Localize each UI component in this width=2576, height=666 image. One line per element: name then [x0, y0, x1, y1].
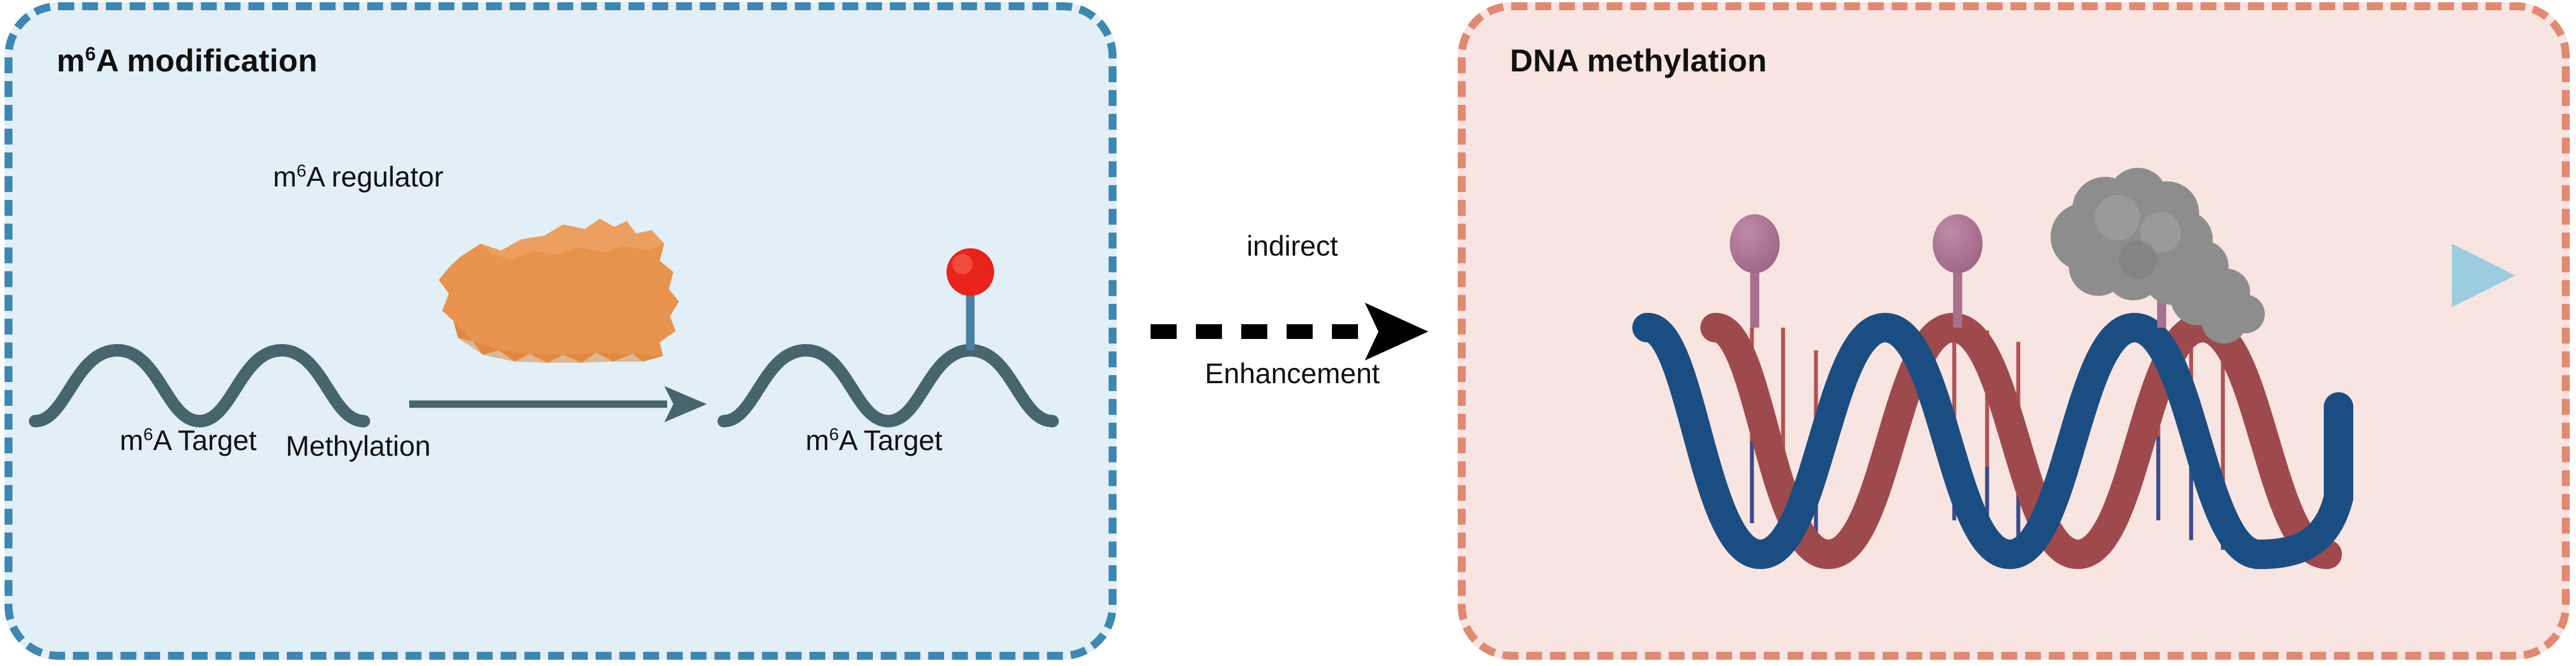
dna-methylation-panel: DNA methylation — [1458, 2, 2570, 660]
methylation-arrow — [409, 386, 707, 422]
m6a-target-label-unmethylated: m6A Target — [1, 424, 375, 457]
figure-canvas: m6A modification — [0, 0, 2576, 666]
m6a-regulator-protein — [439, 219, 679, 363]
arrow-head — [1365, 303, 1428, 360]
dna-panel-graphics — [1466, 10, 2565, 651]
connector-label-enhancement: Enhancement — [1139, 357, 1445, 391]
connector-label-indirect: indirect — [1151, 230, 1434, 263]
methyl-mark — [947, 248, 994, 350]
m6a-target-label-methylated: m6A Target — [687, 424, 1061, 457]
transcription-arrow — [2335, 244, 2515, 503]
m6a-regulator-label: m6A regulator — [200, 160, 517, 194]
rna-strand-unmethylated — [35, 350, 364, 421]
m6a-modification-panel: m6A modification — [5, 2, 1117, 660]
rna-strand-methylated — [724, 350, 1053, 421]
m6a-left-graphics — [12, 10, 1112, 651]
